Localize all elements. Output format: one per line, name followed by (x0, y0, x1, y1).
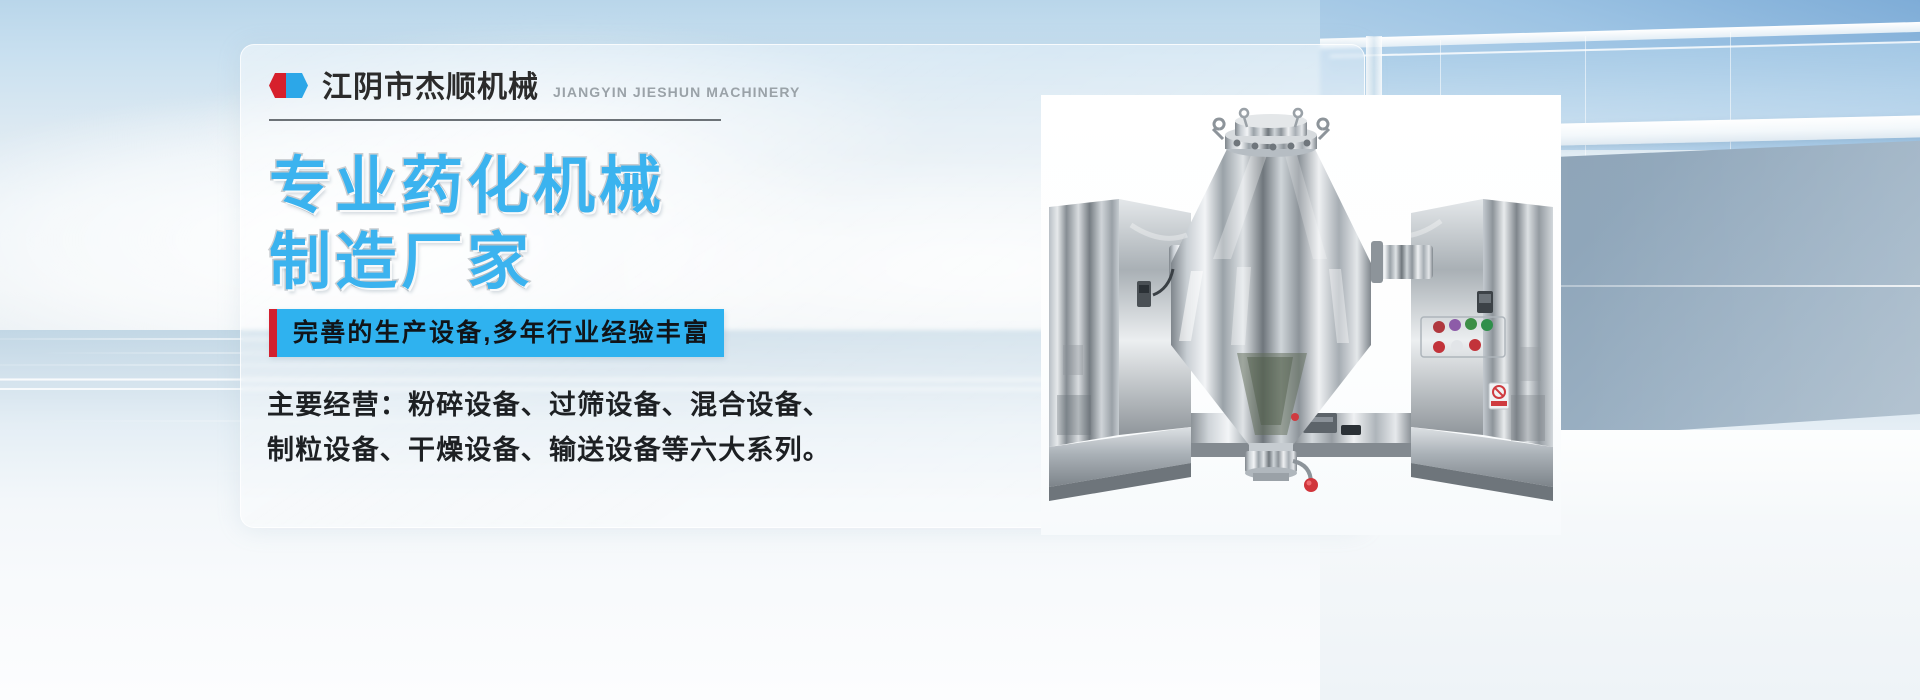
safety-sign (1489, 383, 1509, 409)
headline-line-1: 专业药化机械 (269, 149, 665, 225)
double-cone-rotary-vacuum-dryer-icon (1041, 95, 1561, 535)
headline-line-2: 制造厂家 (269, 225, 665, 301)
brand-logo[interactable]: 江阴市杰顺机械 JIANGYIN JIESHUN MACHINERY (269, 73, 800, 103)
slogan-banner: 完善的生产设备,多年行业经验丰富 (269, 309, 724, 357)
logo-mark (269, 73, 308, 98)
description-line-2: 制粒设备、干燥设备、输送设备等六大系列。 (267, 428, 831, 473)
hexagon-icon-blue (286, 73, 308, 98)
brand-divider (269, 119, 721, 121)
top-manway-port (1213, 109, 1329, 157)
slogan-text: 完善的生产设备,多年行业经验丰富 (293, 321, 710, 346)
brand-name-en: JIANGYIN JIESHUN MACHINERY (553, 85, 800, 99)
page-title: 专业药化机械 制造厂家 (269, 149, 665, 300)
slogan-body: 完善的生产设备,多年行业经验丰富 (277, 309, 724, 357)
banner-stage: 江阴市杰顺机械 JIANGYIN JIESHUN MACHINERY 专业药化机… (0, 0, 1920, 700)
cone-indicator (1291, 413, 1299, 421)
description-line-1: 主要经营：粉碎设备、过筛设备、混合设备、 (267, 383, 831, 428)
slogan-accent-bar (269, 309, 277, 357)
double-cone-vessel (1171, 147, 1371, 445)
description-block: 主要经营：粉碎设备、过筛设备、混合设备、 制粒设备、干燥设备、输送设备等六大系列… (267, 383, 831, 474)
brand-name-cn: 江阴市杰顺机械 (322, 73, 539, 103)
content-card: 江阴市杰顺机械 JIANGYIN JIESHUN MACHINERY 专业药化机… (240, 44, 1365, 528)
product-photo (1041, 95, 1561, 535)
